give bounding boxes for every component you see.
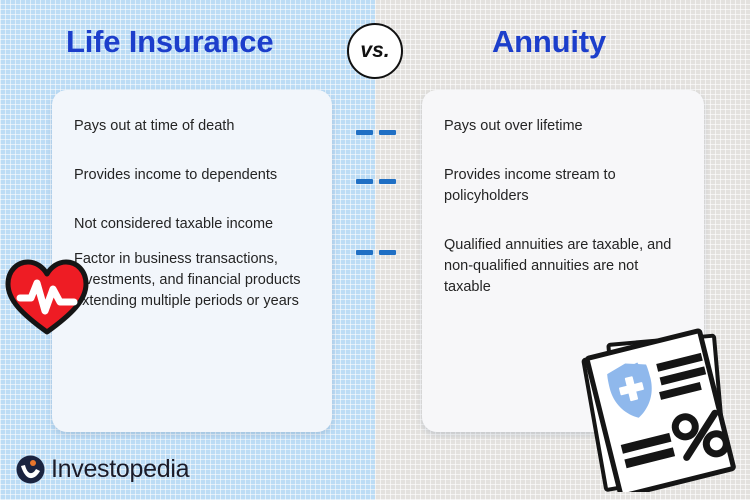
list-item: Pays out over lifetime [444,116,686,137]
right-column-title: Annuity [492,24,606,60]
heart-pulse-icon [4,258,90,336]
list-item: Provides income to dependents [74,165,310,186]
list-item: Provides income stream to policyholders [444,165,686,207]
list-item: Not considered taxable income [74,214,310,235]
investopedia-logo: Investopedia [16,455,189,484]
list-item: Pays out at time of death [74,116,310,137]
investopedia-logo-icon [16,455,45,484]
list-item: Qualified annuities are taxable, and non… [444,235,686,298]
versus-badge: vs. [347,23,403,79]
separator-dashes-2 [356,179,396,184]
separator-dashes-3 [356,250,396,255]
brand-name: Investopedia [51,455,189,484]
insurance-documents-icon [574,316,750,492]
list-item: Factor in business transactions, investm… [74,249,310,312]
infographic-canvas: Life Insurance vs. Annuity Pays out at t… [0,0,750,500]
life-insurance-card: Pays out at time of death Provides incom… [52,90,332,432]
left-column-title: Life Insurance [66,24,273,60]
separator-dashes-1 [356,130,396,135]
